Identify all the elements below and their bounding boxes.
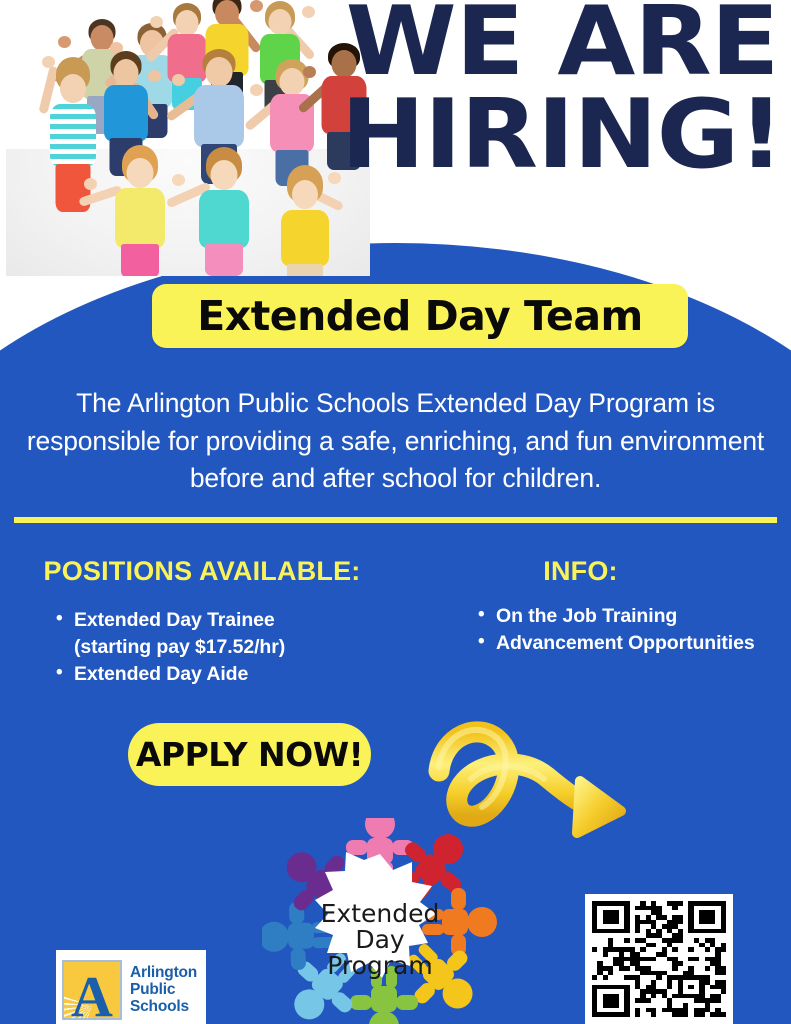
positions-list: Extended Day Trainee (starting pay $17.5…	[56, 607, 400, 688]
positions-heading: POSITIONS AVAILABLE:	[0, 556, 400, 587]
program-description: The Arlington Public Schools Extended Da…	[20, 385, 771, 498]
extended-day-program-logo: Extended Day Program	[262, 818, 498, 1024]
list-item: On the Job Training	[478, 603, 791, 630]
apply-now-button[interactable]: APPLY NOW!	[128, 723, 371, 786]
page-title: WE ARE HIRING!	[339, 0, 784, 182]
team-title-banner: Extended Day Team	[152, 284, 688, 348]
team-title-text: Extended Day Team	[197, 292, 642, 340]
position-pay: (starting pay $17.52/hr)	[74, 634, 400, 661]
aps-letter-a: A	[64, 968, 120, 1020]
children-group-photo	[6, 0, 370, 276]
headline-line-1: WE ARE	[339, 0, 784, 89]
info-section: INFO: On the Job Training Advancement Op…	[410, 556, 791, 657]
qr-code[interactable]	[585, 894, 733, 1024]
list-item: Advancement Opportunities	[478, 630, 791, 657]
child-figure	[196, 150, 252, 276]
headline-line-2: HIRING!	[339, 89, 784, 182]
child-figure	[112, 148, 168, 276]
edp-logo-line-1: Extended	[321, 899, 440, 928]
list-item: Extended Day Aide	[56, 661, 400, 688]
aps-sun-mark-icon: A	[62, 960, 122, 1020]
edp-logo-line-2: Day	[355, 925, 405, 954]
aps-text-line-2: Public	[130, 981, 197, 998]
info-list: On the Job Training Advancement Opportun…	[478, 603, 791, 657]
aps-text-line-1: Arlington	[130, 964, 197, 981]
child-figure	[278, 168, 332, 276]
aps-logo-text: Arlington Public Schools	[130, 964, 197, 1015]
edp-logo-line-3: Program	[327, 951, 432, 980]
positions-section: POSITIONS AVAILABLE: Extended Day Traine…	[0, 556, 400, 688]
aps-text-line-3: Schools	[130, 998, 197, 1015]
position-label: Extended Day Aide	[74, 663, 248, 685]
hiring-flyer: WE ARE HIRING! Extended Day Team The Arl…	[0, 0, 791, 1024]
position-label: Extended Day Trainee	[74, 609, 275, 631]
list-item: Extended Day Trainee (starting pay $17.5…	[56, 607, 400, 661]
arlington-public-schools-logo: A Arlington Public Schools	[56, 950, 206, 1024]
yellow-divider	[14, 517, 777, 523]
qr-code-matrix	[592, 901, 726, 1017]
info-heading: INFO:	[410, 556, 791, 587]
